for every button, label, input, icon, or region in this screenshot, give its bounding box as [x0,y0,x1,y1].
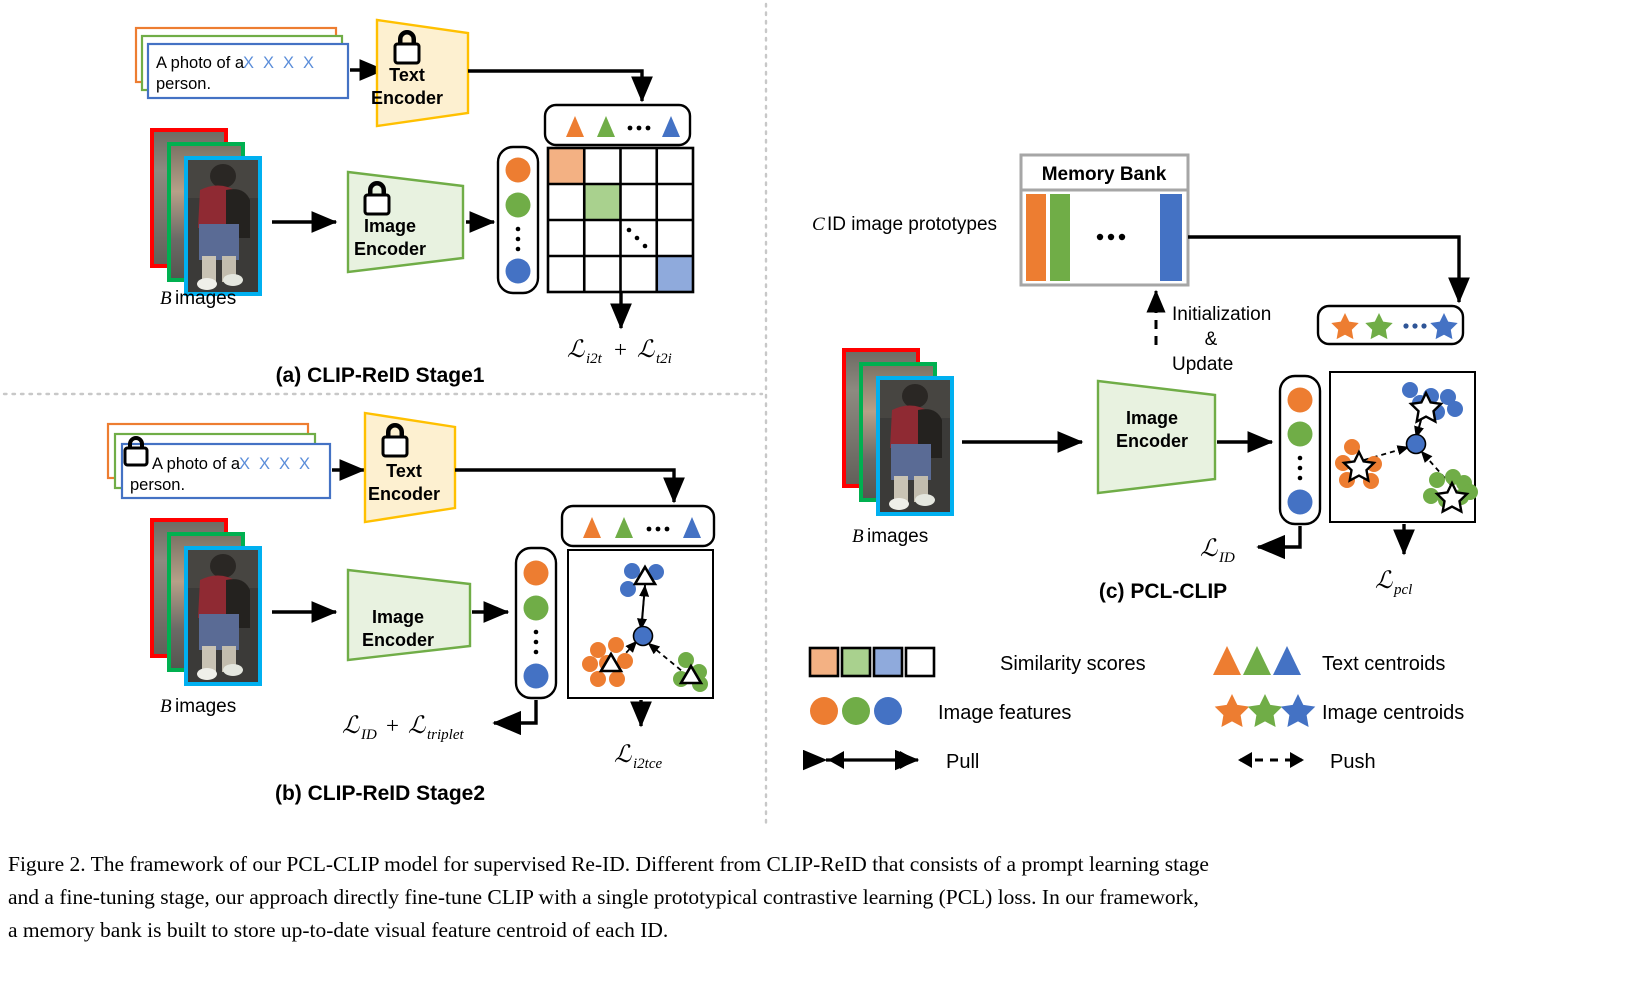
scatter-plot-pcl [1330,372,1478,522]
arrow-features-to-id-loss [1258,526,1300,547]
loss-label-i2tce: ℒ i2tce [614,742,662,772]
b-images-label-b: images [175,696,236,717]
legend-label-text-centroids: Text centroids [1322,653,1445,675]
scatter-plot-stage2 [568,550,713,698]
svg-text:ℒ: ℒ [1200,536,1218,562]
prompt-text-line2: person. [130,476,185,494]
loss-b-left-sub1: ID [360,727,377,743]
image-encoder-label-1: Image [364,216,416,236]
caption-line-2: and a fine-tuning stage, our approach di… [8,881,1624,914]
arrow-text-encoder-to-text-centroids-b [455,470,674,502]
panel-c-pcl-clip: Memory Bank C ID image prototypes Initia… [812,155,1478,603]
svg-text:ℒ: ℒ [567,337,585,363]
svg-text:+: + [614,337,627,362]
image-encoder-label-1: Image [1126,408,1178,428]
arrow-text-encoder-to-text-centroids [468,71,642,101]
ellipsis-dots-vertical [516,227,521,252]
prototypes-symbol: C [812,214,825,235]
init-label-line1: Initialization [1172,304,1271,325]
memory-bank: Memory Bank [1021,155,1188,285]
legend-item-similarity-scores: Similarity scores [810,648,1146,676]
loss-c-id-sub: ID [1218,550,1235,566]
star-blue [1281,694,1316,727]
image-features-pill-b [516,548,556,698]
arrow-features-to-id-triplet-loss [494,700,536,723]
text-centroids-box-a [545,105,690,145]
panel-a-clip-reid-stage1: A photo of a X X X X person. Text Encode… [136,20,693,387]
feature-circle-green [524,596,549,621]
panel-b-clip-reid-stage2: A photo of a X X X X person. Text Encode… [108,413,714,805]
legend-item-pull: Pull [826,751,979,773]
init-label-line2: & [1205,329,1218,350]
image-stack-b [152,520,260,684]
loss-b-bottom-sub: i2tce [633,756,662,772]
b-images-symbol-b: B [160,696,172,717]
prototypes-label: ID image prototypes [827,214,997,235]
text-encoder-b: Text Encoder [365,413,455,522]
legend-label-similarity-scores: Similarity scores [1000,653,1146,675]
svg-text:ℒ: ℒ [637,337,655,363]
image-centroids-box [1318,306,1463,344]
svg-text:+: + [386,713,399,738]
prompt-text-line1: A photo of a [156,54,245,72]
panel-a-title: (a) CLIP-ReID Stage1 [276,364,485,387]
legend-label-push: Push [1330,751,1376,773]
legend-item-push: Push [1238,751,1376,773]
loss-label-pcl: ℒ pcl [1375,568,1412,598]
memory-slot-orange [1026,194,1046,281]
ellipsis-dots [1403,323,1426,328]
similarity-matrix-a [548,148,693,292]
svg-text:ℒ: ℒ [614,742,632,768]
matrix-cell-diag-4 [657,256,693,292]
text-encoder-label-2: Encoder [368,484,440,504]
legend-label-image-centroids: Image centroids [1322,702,1464,724]
image-encoder-c: Image Encoder [1098,381,1215,493]
pcl-clip-framework-diagram: A photo of a X X X X person. Text Encode… [0,0,1632,848]
circle-orange [810,697,838,725]
panel-b-title: (b) CLIP-ReID Stage2 [275,782,485,805]
feature-circle-orange [1288,388,1313,413]
anchor-feature-blue [1407,435,1426,454]
text-centroids-box-b [562,506,714,546]
anchor-feature-blue [634,627,653,646]
memory-slot-green [1050,194,1070,281]
loss-label-id-c: ℒ ID [1200,536,1235,566]
circle-green [842,697,870,725]
feature-circle-orange [524,561,549,586]
ellipsis-dots [647,527,670,532]
ellipsis-dots-vertical [534,630,539,655]
loss-a-sub2: t2i [656,351,672,367]
memory-bank-ellipsis [1097,234,1125,240]
svg-text:ℒ: ℒ [408,713,426,739]
image-features-pill-a [498,147,538,293]
triangle-orange [1213,646,1241,675]
loss-c-pcl-sub: pcl [1393,582,1412,598]
legend-label-image-features: Image features [938,702,1071,724]
matrix-cell-diag-1 [548,148,584,184]
image-encoder-label-2: Encoder [354,239,426,259]
image-encoder-b: Image Encoder [348,570,470,660]
svg-text:ℒ: ℒ [342,713,360,739]
legend-label-pull: Pull [946,751,979,773]
image-stack-c [844,350,952,514]
legend-item-image-features: Image features [810,697,1071,725]
image-encoder-a: Image Encoder [348,172,463,272]
caption-line-3: a memory bank is built to store up-to-da… [8,914,1624,947]
loss-b-left-sub2: triplet [427,727,464,743]
figure-caption: Figure 2. The framework of our PCL-CLIP … [8,848,1624,947]
feature-circle-blue [1288,490,1313,515]
matrix-cell-diag-2 [584,184,620,220]
b-images-symbol-a: B [160,288,172,309]
image-encoder-label-2: Encoder [1116,431,1188,451]
prompt-text-line1: A photo of a [152,455,241,473]
ellipsis-dots-vertical [1298,456,1303,481]
star-orange [1215,694,1250,727]
text-encoder-label-2: Encoder [371,88,443,108]
loss-label-id-triplet: ℒ ID + ℒ triplet [342,713,464,743]
caption-line-1: Figure 2. The framework of our PCL-CLIP … [8,848,1624,881]
arrow-memory-bank-to-image-centroids [1188,237,1459,302]
prompt-tokens: X X X X [243,54,316,72]
init-label-line3: Update [1172,354,1233,375]
star-green [1248,694,1283,727]
b-images-label-c: images [867,526,928,547]
feature-circle-green [1288,422,1313,447]
memory-slot-blue [1160,194,1182,281]
image-stack-a [152,130,260,294]
svg-text:ℒ: ℒ [1375,568,1393,594]
b-images-symbol-c: B [852,526,864,547]
b-images-label-a: images [175,288,236,309]
legend-item-image-centroids: Image centroids [1215,694,1465,727]
feature-circle-blue [506,259,531,284]
memory-bank-title: Memory Bank [1042,164,1167,185]
feature-circle-orange [506,158,531,183]
prompt-text-line2: person. [156,75,211,93]
legend-item-text-centroids: Text centroids [1213,646,1445,675]
feature-circle-green [506,193,531,218]
text-encoder-label-1: Text [389,65,425,85]
ellipsis-dots [628,126,651,131]
legend: Similarity scores Text centroids Image f… [810,646,1464,773]
image-encoder-label-2: Encoder [362,630,434,650]
circle-blue [874,697,902,725]
image-features-pill-c [1280,376,1320,524]
text-encoder-label-1: Text [386,461,422,481]
loss-a-sub1: i2t [586,351,603,367]
triangle-green [1243,646,1271,675]
feature-circle-blue [524,664,549,689]
image-encoder-label-1: Image [372,607,424,627]
loss-label-a: ℒ i2t + ℒ t2i [567,337,672,367]
text-encoder-a: Text Encoder [371,20,468,126]
triangle-blue [1273,646,1301,675]
panel-c-title: (c) PCL-CLIP [1099,580,1227,603]
prompt-tokens: X X X X [239,455,312,473]
